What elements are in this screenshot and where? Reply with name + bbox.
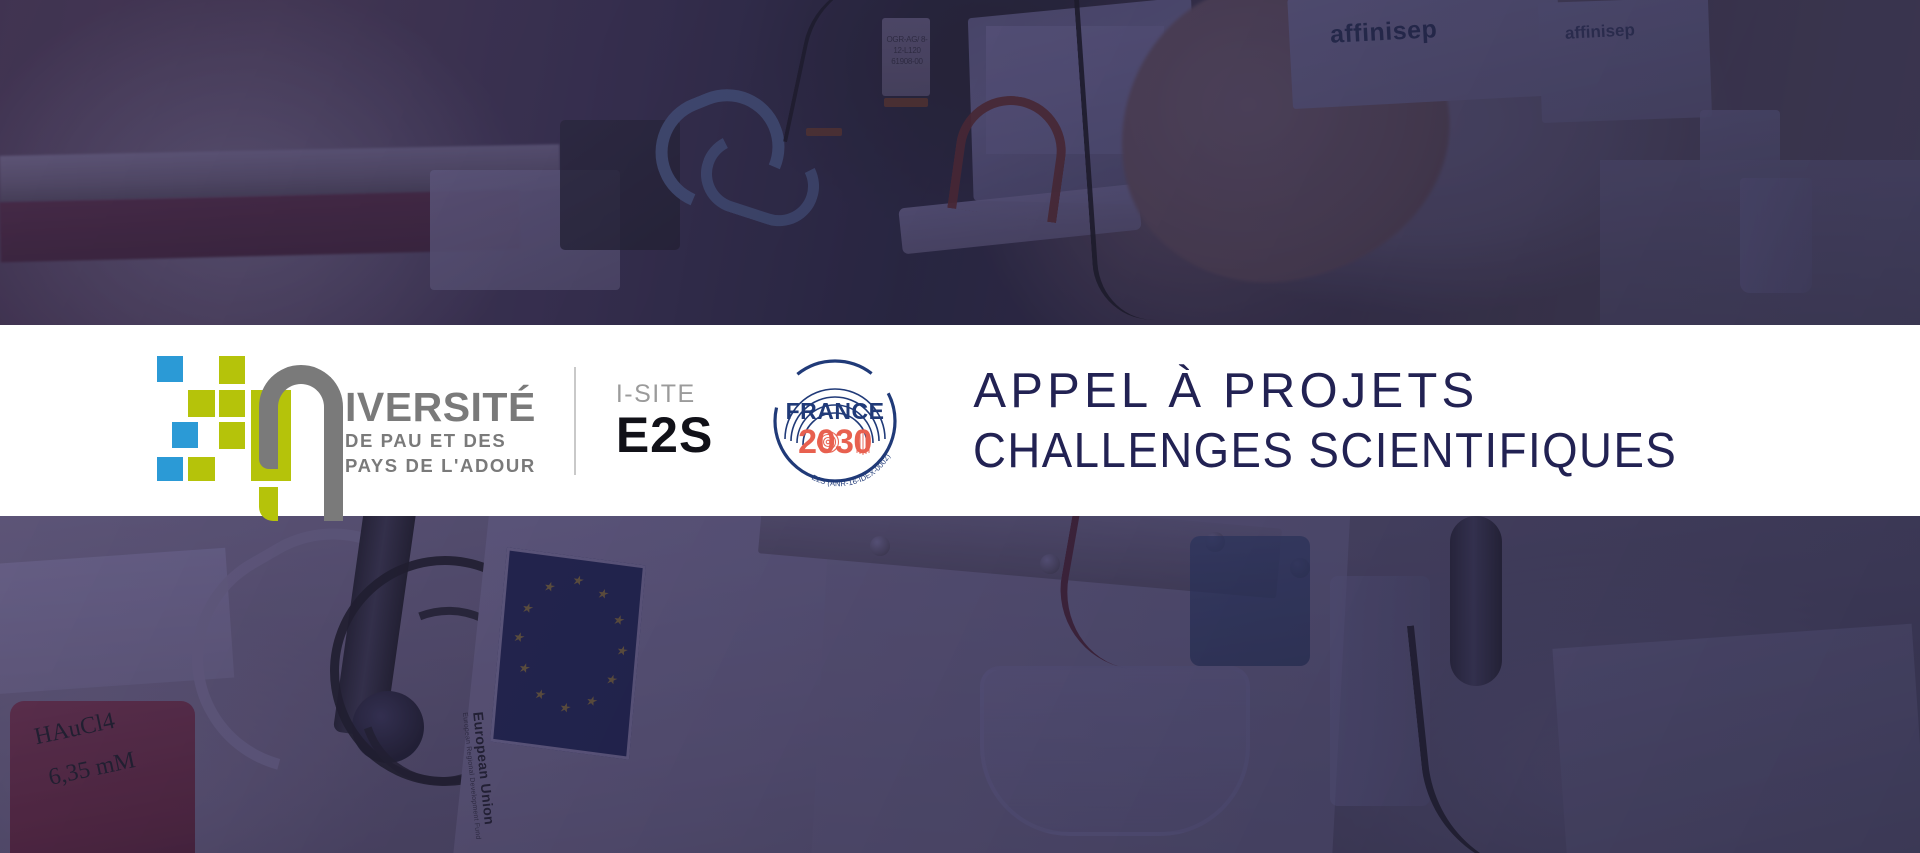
uppa-subtitle-line2: PAYS DE L'ADOUR: [345, 455, 536, 477]
mosaic-tile: [188, 457, 215, 481]
uppa-wordmark: IVERSITÉ DE PAU ET DES PAYS DE L'ADOUR: [259, 365, 536, 477]
uppa-title: IVERSITÉ: [345, 387, 536, 427]
mosaic-tile: [157, 356, 183, 382]
logo-title-band: IVERSITÉ DE PAU ET DES PAYS DE L'ADOUR I…: [0, 325, 1920, 516]
svg-text:FRANCE: FRANCE: [786, 398, 885, 424]
uppa-mosaic-icon: [143, 356, 251, 486]
france-2030-logo: FRANCE 2030: [761, 347, 909, 495]
uppa-u-glyph-icon: [259, 365, 343, 469]
e2s-acronym: E2S: [616, 408, 714, 462]
mosaic-tile: [172, 422, 198, 448]
mosaic-tile: [219, 422, 245, 449]
page-title-line1: APPEL À PROJETS: [973, 361, 1730, 421]
uppa-subtitle-line1: DE PAU ET DES: [345, 430, 536, 452]
logo-divider: [574, 367, 576, 475]
mosaic-tile: [219, 356, 245, 384]
uppa-logo: IVERSITÉ DE PAU ET DES PAYS DE L'ADOUR: [143, 356, 536, 486]
photo-top-tint-2: [0, 0, 1920, 325]
uppa-text-block: IVERSITÉ DE PAU ET DES PAYS DE L'ADOUR: [345, 365, 536, 477]
france-2030-seal-icon: FRANCE 2030: [761, 347, 909, 495]
mosaic-tile: [157, 457, 183, 481]
lab-photo-bottom: ★ ★ ★ ★ ★ ★ ★ ★ ★ ★ ★ ★ European Union E…: [0, 516, 1920, 853]
page-title-line2: CHALLENGES SCIENTIFIQUES: [973, 421, 1677, 481]
mosaic-tile: [219, 390, 245, 417]
photo-bottom-tint-2: [0, 516, 1920, 853]
banner-title: APPEL À PROJETS CHALLENGES SCIENTIFIQUES: [973, 361, 1730, 481]
lab-photo-top: OGR-AG/ 8-12-L120 61908-00 affinisep aff…: [0, 0, 1920, 325]
i-site-eyebrow: I-SITE: [616, 380, 714, 408]
i-site-e2s-logo: I-SITE E2S: [616, 380, 714, 462]
mosaic-tile: [188, 390, 215, 417]
appel-a-projets-banner: OGR-AG/ 8-12-L120 61908-00 affinisep aff…: [0, 0, 1920, 853]
